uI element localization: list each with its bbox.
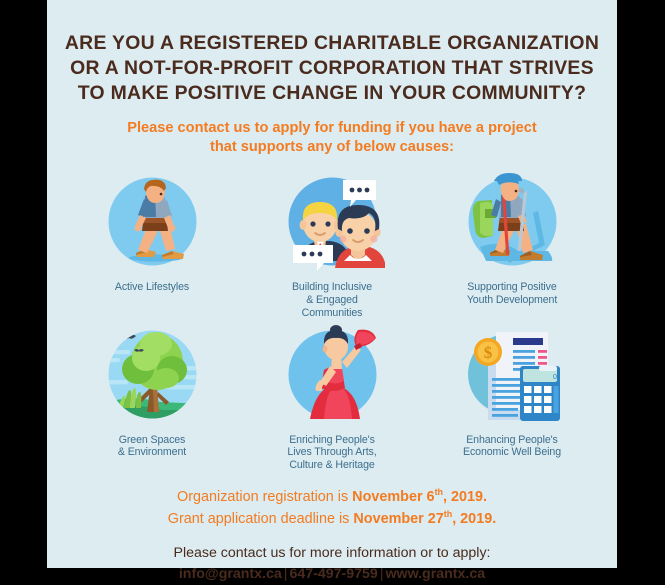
walking-person-icon	[100, 169, 205, 274]
contact-email[interactable]: info@grantx.ca	[179, 566, 282, 582]
caption-line: Culture & Heritage	[287, 459, 376, 472]
headline-line-2: OR A NOT-FOR-PROFIT CORPORATION THAT STR…	[60, 56, 605, 81]
letterbox-bar-left	[0, 0, 47, 568]
cause-caption: Active Lifestyles	[115, 281, 189, 294]
caption-line: Supporting Positive	[467, 281, 557, 294]
cause-caption: Green Spaces & Environment	[118, 434, 186, 460]
caption-line: Active Lifestyles	[115, 281, 189, 294]
cause-caption: Supporting Positive Youth Development	[467, 281, 557, 307]
caption-line: Lives Through Arts,	[287, 446, 376, 459]
contact-block: Please contact us for more information o…	[173, 543, 490, 585]
tree-with-birds-icon	[100, 322, 205, 427]
key-dates: Organization registration is November 6t…	[168, 486, 496, 529]
registration-date-line: Organization registration is November 6t…	[168, 486, 496, 508]
contact-details: info@grantx.ca|647-497-9759|www.grantx.c…	[173, 564, 490, 585]
svg-text:0: 0	[553, 374, 557, 381]
page-title: ARE YOU A REGISTERED CHARITABLE ORGANIZA…	[60, 31, 605, 107]
deadline-month-day: November 27	[353, 511, 443, 527]
hiker-with-backpack-icon	[460, 169, 565, 274]
caption-line: Enhancing People's	[463, 434, 561, 447]
deadline-year: , 2019.	[452, 511, 496, 527]
subheading-line-1: Please contact us to apply for funding i…	[97, 119, 567, 139]
headline-line-3: TO MAKE POSITIVE CHANGE IN YOUR COMMUNIT…	[60, 81, 605, 106]
cause-item-building-inclusive-communities: Building Inclusive & Engaged Communities	[242, 169, 422, 320]
grant-funding-poster: ARE YOU A REGISTERED CHARITABLE ORGANIZA…	[47, 0, 617, 568]
contact-phone[interactable]: 647-497-9759	[289, 566, 377, 582]
causes-grid: Active Lifestyles	[62, 169, 602, 473]
cause-caption: Enhancing People's Economic Well Being	[463, 434, 561, 460]
cause-item-green-spaces: Green Spaces & Environment	[62, 322, 242, 473]
subheading: Please contact us to apply for funding i…	[97, 119, 567, 158]
registration-prefix: Organization registration is	[177, 489, 352, 505]
registration-ordinal: th	[435, 487, 443, 497]
caption-line: Economic Well Being	[463, 446, 561, 459]
caption-line: & Environment	[118, 446, 186, 459]
caption-line: Green Spaces	[118, 434, 186, 447]
contact-lead: Please contact us for more information o…	[173, 543, 490, 564]
contact-website[interactable]: www.grantx.ca	[386, 566, 486, 582]
caption-line: Communities	[292, 307, 372, 320]
cause-caption: Building Inclusive & Engaged Communities	[292, 281, 372, 320]
cause-caption: Enriching People's Lives Through Arts, C…	[287, 434, 376, 473]
cause-item-economic-well-being: 0 $ Enhancing People's Economic Well Bei…	[422, 322, 602, 473]
svg-text:$: $	[483, 343, 492, 362]
contact-separator-2: |	[378, 566, 386, 582]
registration-month-day: November 6	[352, 489, 434, 505]
subheading-line-2: that supports any of below causes:	[97, 138, 567, 158]
cause-item-arts-culture-heritage: Enriching People's Lives Through Arts, C…	[242, 322, 422, 473]
flamenco-dancer-icon	[280, 322, 385, 427]
letterbox-bar-right	[617, 0, 665, 568]
headline-line-1: ARE YOU A REGISTERED CHARITABLE ORGANIZA…	[60, 31, 605, 56]
caption-line: Youth Development	[467, 294, 557, 307]
caption-line: Enriching People's	[287, 434, 376, 447]
deadline-prefix: Grant application deadline is	[168, 511, 354, 527]
cause-item-active-lifestyles: Active Lifestyles	[62, 169, 242, 320]
caption-line: Building Inclusive	[292, 281, 372, 294]
contact-separator-1: |	[282, 566, 290, 582]
calculator-document-coin-icon: 0 $	[460, 322, 565, 427]
registration-year: , 2019.	[443, 489, 487, 505]
two-people-speech-bubbles-icon	[280, 169, 385, 274]
deadline-ordinal: th	[444, 509, 452, 519]
caption-line: & Engaged	[292, 294, 372, 307]
deadline-date-line: Grant application deadline is November 2…	[168, 508, 496, 530]
cause-item-youth-development: Supporting Positive Youth Development	[422, 169, 602, 320]
